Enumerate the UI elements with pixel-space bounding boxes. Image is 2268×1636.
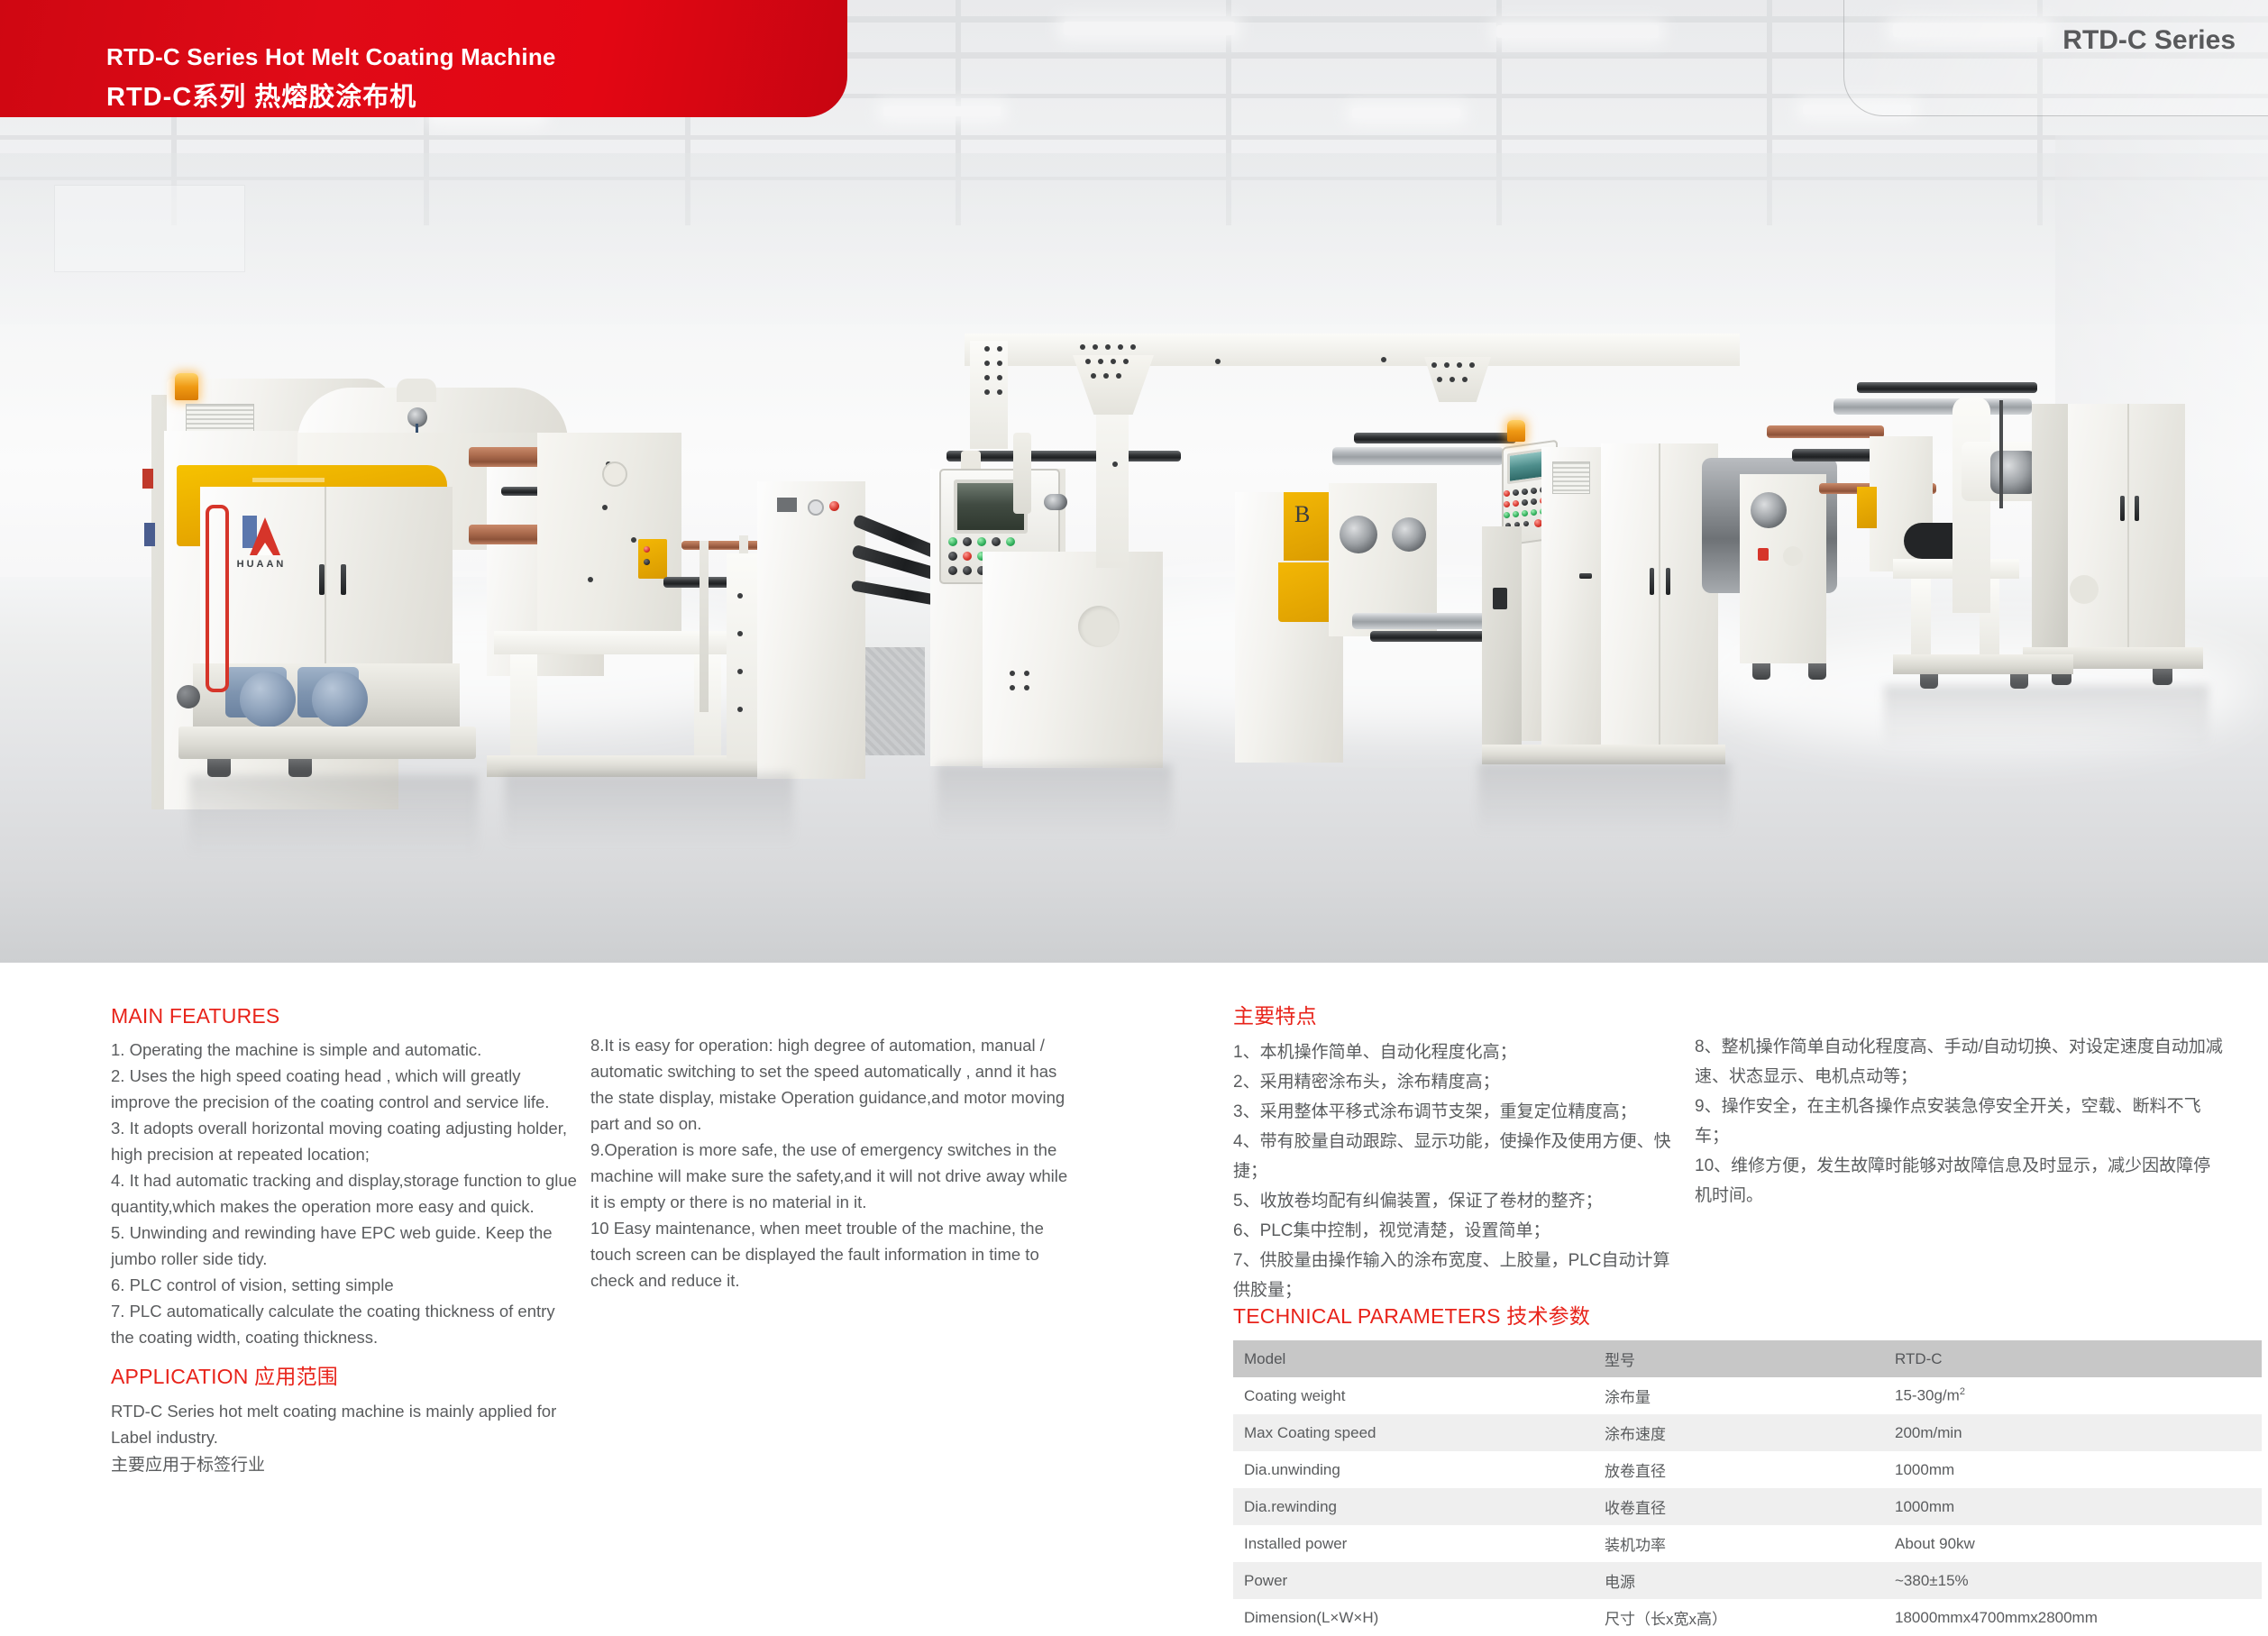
param-name-en: Coating weight xyxy=(1233,1377,1594,1414)
huaan-logo: HUAAN xyxy=(227,516,296,570)
param-value: RTD-C xyxy=(1884,1340,2262,1377)
content-area: MAIN FEATURES 1. Operating the machine i… xyxy=(0,963,2268,1549)
param-name-cn: 涂布速度 xyxy=(1594,1414,1884,1451)
param-name-cn: 尺寸（长x宽x高） xyxy=(1594,1599,1884,1636)
param-name-cn: 装机功率 xyxy=(1594,1525,1884,1562)
table-row: Coating weight涂布量15-30g/m2 xyxy=(1233,1377,2262,1414)
feature-item-cn: 1、本机操作简单、自动化程度化高； xyxy=(1233,1037,1684,1067)
feature-item: 9.Operation is more safe, the use of eme… xyxy=(590,1137,1073,1215)
feature-item: 6. PLC control of vision, setting simple xyxy=(111,1272,580,1298)
main-features-cn-col2: 8、整机操作简单自动化程度高、手动/自动切换、对设定速度自动加减速、状态显示、电… xyxy=(1695,1032,2227,1211)
param-value: ~380±15% xyxy=(1884,1562,2262,1599)
coiled-cable xyxy=(206,505,229,692)
feature-item-cn: 7、供胶量由操作输入的涂布宽度、上胶量，PLC自动计算供胶量； xyxy=(1233,1246,1684,1305)
feature-item: 7. PLC automatically calculate the coati… xyxy=(111,1298,580,1350)
main-features-list-en-1: 1. Operating the machine is simple and a… xyxy=(111,1037,580,1350)
main-features-list-en-2: 8.It is easy for operation: high degree … xyxy=(590,1032,1073,1293)
table-row: Model型号RTD-C xyxy=(1233,1340,2262,1377)
param-name-en: Dimension(L×W×H) xyxy=(1233,1599,1594,1636)
banner-title-cn: RTD-C系列 热熔胶涂布机 xyxy=(106,76,416,114)
table-row: Max Coating speed涂布速度200m/min xyxy=(1233,1414,2262,1451)
feature-item: 2. Uses the high speed coating head , wh… xyxy=(111,1063,580,1115)
product-photo: HUAAN xyxy=(0,0,2268,963)
param-name-cn: 电源 xyxy=(1594,1562,1884,1599)
application-heading: APPLICATION 应用范围 xyxy=(111,1359,598,1390)
drive-motor xyxy=(312,672,368,727)
huaan-logo-text: HUAAN xyxy=(227,559,296,570)
control-box-yellow xyxy=(638,539,667,579)
feature-item-cn: 10、维修方便，发生故障时能够对故障信息及时显示，减少因故障停机时间。 xyxy=(1695,1151,2227,1211)
series-tab: RTD-C Series xyxy=(1843,0,2268,116)
feature-item: 10 Easy maintenance, when meet trouble o… xyxy=(590,1215,1073,1293)
main-features-col1: MAIN FEATURES 1. Operating the machine i… xyxy=(111,1004,580,1350)
param-name-cn: 涂布量 xyxy=(1594,1377,1884,1414)
param-value: About 90kw xyxy=(1884,1525,2262,1562)
param-value: 200m/min xyxy=(1884,1414,2262,1451)
param-name-cn: 收卷直径 xyxy=(1594,1488,1884,1525)
feature-item: 4. It had automatic tracking and display… xyxy=(111,1167,580,1220)
param-value: 1000mm xyxy=(1884,1451,2262,1488)
main-features-heading: MAIN FEATURES xyxy=(111,1004,580,1028)
table-row: Dimension(L×W×H)尺寸（长x宽x高）18000mmx4700mmx… xyxy=(1233,1599,2262,1636)
application-block: APPLICATION 应用范围 RTD-C Series hot melt c… xyxy=(111,1359,598,1480)
param-name-en: Max Coating speed xyxy=(1233,1414,1594,1451)
beacon-light xyxy=(175,373,198,400)
feature-item-cn: 2、采用精密涂布头，涂布精度高； xyxy=(1233,1067,1684,1097)
feature-item-cn: 4、带有胶量自动跟踪、显示功能，使操作及使用方便、快捷； xyxy=(1233,1127,1684,1186)
application-text-en: RTD-C Series hot melt coating machine is… xyxy=(111,1398,598,1450)
drive-motor xyxy=(240,672,296,727)
main-features-list-cn-2: 8、整机操作简单自动化程度高、手动/自动切换、对设定速度自动加减速、状态显示、电… xyxy=(1695,1032,2227,1211)
main-features-cn-heading: 主要特点 xyxy=(1233,999,1684,1029)
feature-item: 3. It adopts overall horizontal moving c… xyxy=(111,1115,580,1167)
technical-parameters-table: Model型号RTD-CCoating weight涂布量15-30g/m2Ma… xyxy=(1233,1340,2262,1636)
table-row: Dia.unwinding放卷直径1000mm xyxy=(1233,1451,2262,1488)
main-features-col2: 8.It is easy for operation: high degree … xyxy=(590,1032,1073,1293)
table-row: Power电源~380±15% xyxy=(1233,1562,2262,1599)
feature-item-cn: 8、整机操作简单自动化程度高、手动/自动切换、对设定速度自动加减速、状态显示、电… xyxy=(1695,1032,2227,1092)
huaan-logo-mark xyxy=(241,516,282,557)
param-value: 15-30g/m2 xyxy=(1884,1377,2262,1414)
electrical-cabinet-left xyxy=(200,487,453,667)
feature-item-cn: 3、采用整体平移式涂布调节支架，重复定位精度高； xyxy=(1233,1097,1684,1127)
param-name-cn: 放卷直径 xyxy=(1594,1451,1884,1488)
main-features-list-cn-1: 1、本机操作简单、自动化程度化高； 2、采用精密涂布头，涂布精度高； 3、采用整… xyxy=(1233,1037,1684,1305)
param-value: 1000mm xyxy=(1884,1488,2262,1525)
hydraulic-cabinet xyxy=(757,481,865,779)
feature-item-cn: 5、收放卷均配有纠偏装置，保证了卷材的整齐； xyxy=(1233,1186,1684,1216)
param-name-en: Model xyxy=(1233,1340,1594,1377)
param-name-en: Dia.unwinding xyxy=(1233,1451,1594,1488)
technical-parameters-heading: TECHNICAL PARAMETERS 技术参数 xyxy=(1233,1299,2229,1330)
table-row: Dia.rewinding收卷直径1000mm xyxy=(1233,1488,2262,1525)
table-row: Installed power装机功率About 90kw xyxy=(1233,1525,2262,1562)
param-value: 18000mmx4700mmx2800mm xyxy=(1884,1599,2262,1636)
application-text-cn: 主要应用于标签行业 xyxy=(111,1450,598,1480)
title-banner: RTD-C Series Hot Melt Coating Machine RT… xyxy=(0,0,847,117)
feature-item: 8.It is easy for operation: high degree … xyxy=(590,1032,1073,1137)
param-name-en: Power xyxy=(1233,1562,1594,1599)
feature-item: 1. Operating the machine is simple and a… xyxy=(111,1037,580,1063)
main-features-cn-col1: 主要特点 1、本机操作简单、自动化程度化高； 2、采用精密涂布头，涂布精度高； … xyxy=(1233,999,1684,1305)
technical-parameters-block: TECHNICAL PARAMETERS 技术参数 Model型号RTD-CCo… xyxy=(1233,1299,2229,1636)
banner-title-en: RTD-C Series Hot Melt Coating Machine xyxy=(106,43,556,71)
param-name-en: Installed power xyxy=(1233,1525,1594,1562)
series-label: RTD-C Series xyxy=(2062,25,2236,56)
station-b-label: B xyxy=(1294,501,1310,528)
feature-item: 5. Unwinding and rewinding have EPC web … xyxy=(111,1220,580,1272)
param-name-en: Dia.rewinding xyxy=(1233,1488,1594,1525)
feature-item-cn: 9、操作安全，在主机各操作点安装急停安全开关，空载、断料不飞车； xyxy=(1695,1092,2227,1151)
param-name-cn: 型号 xyxy=(1594,1340,1884,1377)
feature-item-cn: 6、PLC集中控制，视觉清楚，设置简单； xyxy=(1233,1216,1684,1246)
